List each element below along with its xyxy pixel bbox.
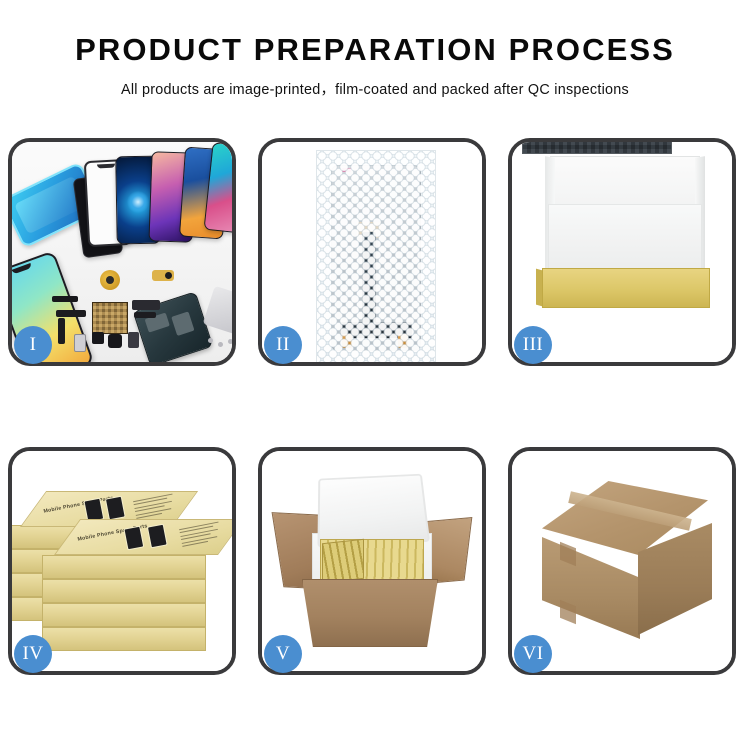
phone-lineup-scene xyxy=(12,142,232,362)
step-4-image: Mobile Phone Spare Parts Mob xyxy=(12,451,232,671)
box-screen-image xyxy=(147,524,168,549)
yellow-boxes-bundle-side xyxy=(322,539,364,583)
step-1-image xyxy=(12,142,232,362)
chip-grid-part xyxy=(92,302,128,334)
bubble-texture xyxy=(317,151,435,362)
step-badge-5: V xyxy=(264,635,302,673)
flex-cable-part-1 xyxy=(56,310,86,317)
stacked-box-side xyxy=(42,603,206,627)
step-badge-1: I xyxy=(14,326,52,364)
flex-cable-part-4 xyxy=(134,312,156,318)
step-5-image xyxy=(262,451,482,671)
button-part-2 xyxy=(108,334,122,348)
camera-module-part xyxy=(152,270,174,281)
foam-lid xyxy=(317,474,430,548)
carton-left-face xyxy=(542,537,640,639)
screws-group xyxy=(208,338,232,352)
box-spec-lines xyxy=(179,521,224,551)
flex-cable-part-2 xyxy=(58,318,65,344)
white-lid-front-face xyxy=(548,204,702,272)
sim-tray-part xyxy=(74,334,86,352)
process-step-grid: I II xyxy=(8,138,742,675)
speaker-part xyxy=(52,296,78,302)
step-badge-6: VI xyxy=(514,635,552,673)
box-screen-image xyxy=(105,496,126,521)
box-stack-scene: Mobile Phone Spare Parts Mob xyxy=(12,451,232,671)
process-step-2[interactable]: II xyxy=(258,138,486,366)
process-step-1[interactable]: I xyxy=(8,138,236,366)
bubble-wrapped-contents xyxy=(522,142,672,154)
step-3-image xyxy=(512,142,732,362)
bubble-wrap-scene xyxy=(262,142,482,362)
page-header: PRODUCT PREPARATION PROCESS All products… xyxy=(0,0,750,99)
stacked-box-side xyxy=(42,627,206,651)
page-subtitle: All products are image-printed，film-coat… xyxy=(0,78,750,99)
kraft-box-stack: Mobile Phone Spare Parts Mob xyxy=(12,451,232,671)
process-step-6[interactable]: VI xyxy=(508,447,736,675)
carton-body xyxy=(302,579,438,647)
step-badge-4: IV xyxy=(14,635,52,673)
step-2-image xyxy=(262,142,482,362)
button-part-1 xyxy=(92,332,104,344)
page-title: PRODUCT PREPARATION PROCESS xyxy=(0,34,750,67)
stacked-box-side xyxy=(42,555,206,579)
process-step-3[interactable]: III xyxy=(508,138,736,366)
box-label-text: Mobile Phone Spare Parts xyxy=(43,495,114,514)
step-6-image xyxy=(512,451,732,671)
step-badge-3: III xyxy=(514,326,552,364)
bubble-wrap-bag xyxy=(316,150,436,362)
sealed-carton-scene xyxy=(512,451,732,671)
yellow-box-tray xyxy=(542,268,710,308)
stacked-box-lid: Mobile Phone Spare Parts xyxy=(54,519,232,555)
inner-box-scene xyxy=(512,142,732,362)
wireless-coil-part xyxy=(100,270,120,290)
step-badge-2: II xyxy=(264,326,302,364)
stacked-box-side xyxy=(42,579,206,603)
phone-battery xyxy=(171,311,194,336)
process-step-4[interactable]: Mobile Phone Spare Parts Mob xyxy=(8,447,236,675)
small-battery-part xyxy=(128,332,139,348)
process-step-5[interactable]: V xyxy=(258,447,486,675)
flex-cable-part-3 xyxy=(132,300,160,310)
carton-loading-scene xyxy=(262,451,482,671)
